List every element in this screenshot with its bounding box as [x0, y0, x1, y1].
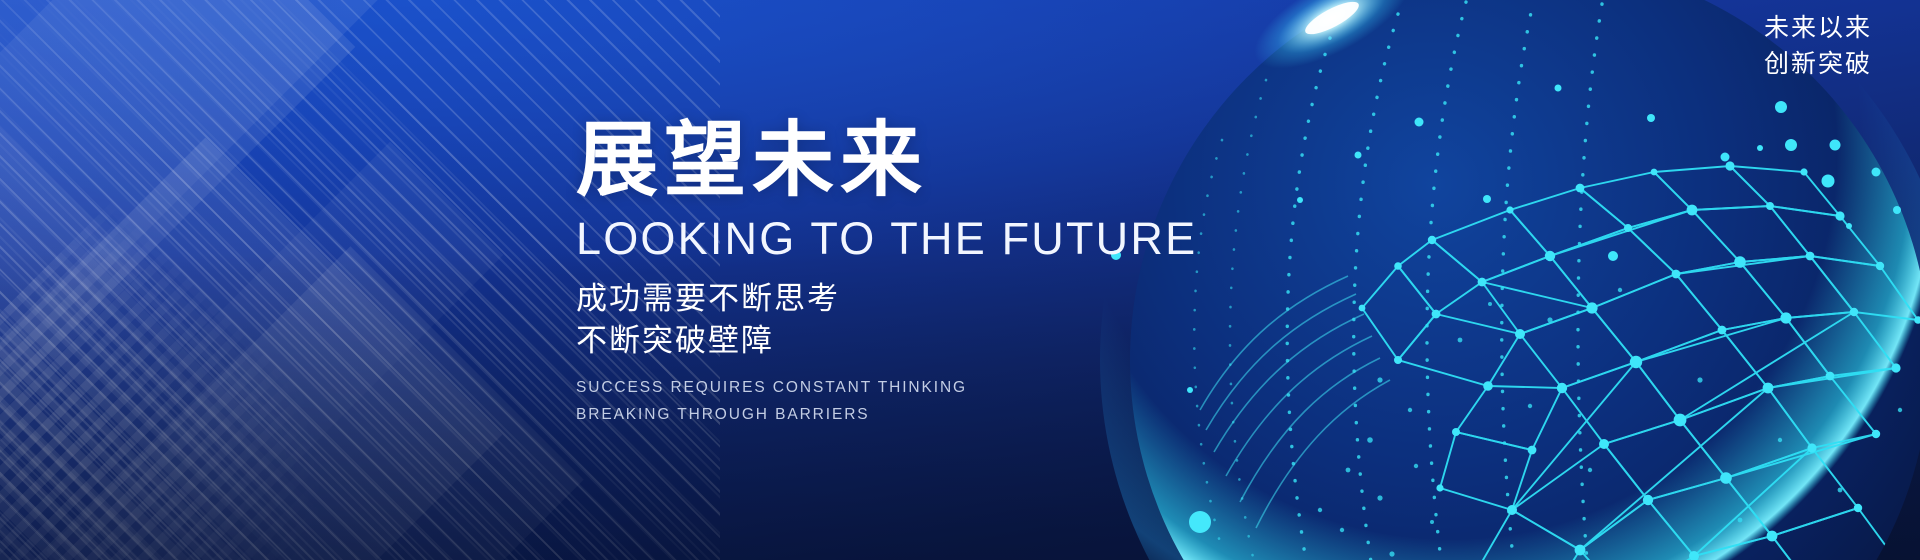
geometry-slab [157, 142, 503, 488]
copy-block: 展望未来 LOOKING TO THE FUTURE 成功需要不断思考 不断突破… [576, 118, 1196, 428]
subtitle-english-line-2: BREAKING THROUGH BARRIERS [576, 401, 1196, 428]
page-title: 展望未来 [576, 118, 1196, 204]
subtitle-english: SUCCESS REQUIRES CONSTANT THINKING BREAK… [576, 374, 1196, 428]
geometry-slab [0, 138, 502, 560]
geometry-slab [0, 87, 143, 554]
corner-tagline-line-2: 创新突破 [1764, 46, 1872, 82]
promo-banner: 展望未来 LOOKING TO THE FUTURE 成功需要不断思考 不断突破… [0, 0, 1920, 560]
globe-network-icon [1080, 0, 1920, 560]
globe-graphic [1080, 0, 1920, 560]
geometry-slab [0, 0, 355, 485]
corner-tagline: 未来以来 创新突破 [1764, 10, 1872, 83]
headline-english: LOOKING TO THE FUTURE [576, 214, 1196, 264]
subtitle-chinese-line-2: 不断突破壁障 [576, 320, 1196, 363]
corner-tagline-line-1: 未来以来 [1764, 10, 1872, 46]
subtitle-chinese-line-1: 成功需要不断思考 [576, 278, 1196, 321]
geometry-slab [46, 246, 583, 560]
subtitle-english-line-1: SUCCESS REQUIRES CONSTANT THINKING [576, 374, 1196, 401]
diamond-dot-grid [0, 201, 409, 560]
geometry-slab [0, 0, 424, 349]
subtitle-chinese: 成功需要不断思考 不断突破壁障 [576, 278, 1196, 364]
